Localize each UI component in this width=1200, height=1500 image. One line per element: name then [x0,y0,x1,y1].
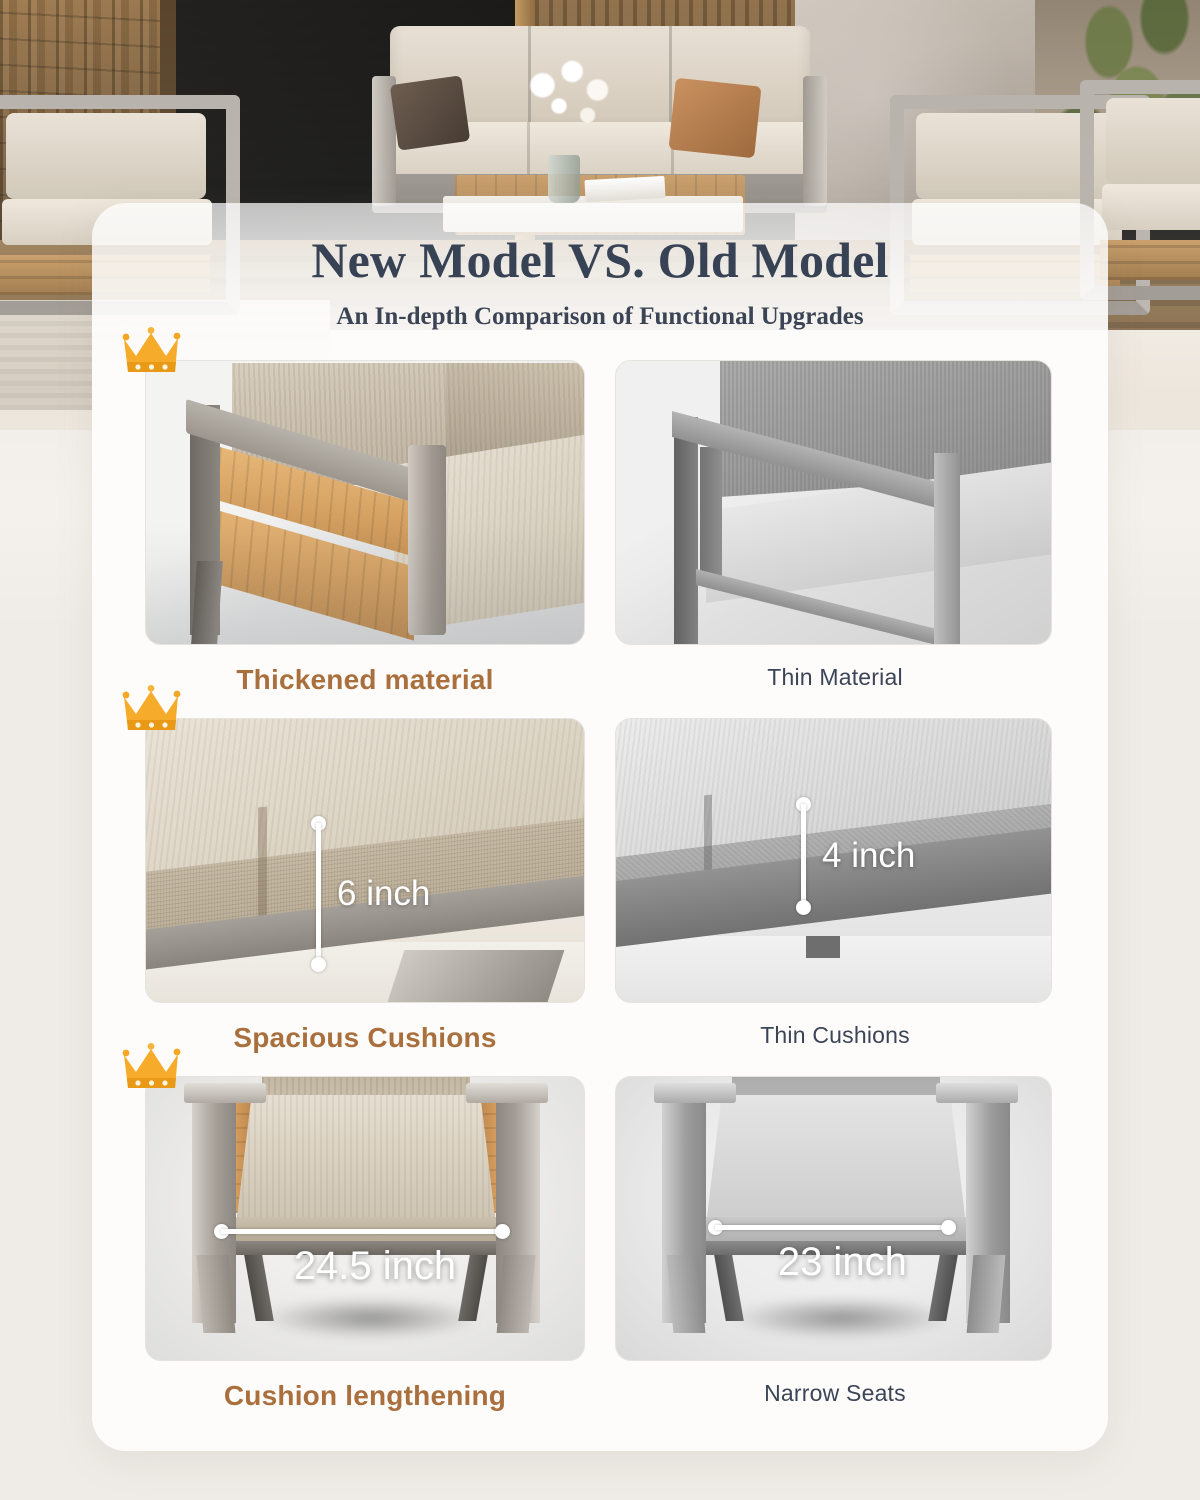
measurement-label: 6 inch [337,874,430,914]
measurement-label: 4 inch [822,836,915,876]
new-model-image-seat-width[interactable]: 24.5 inch [145,1076,585,1361]
measurement-label: 23 inch [778,1240,907,1285]
new-model-caption-cushions: Spacious Cushions [145,1022,585,1054]
new-model-image-material[interactable] [145,360,585,645]
measurement-line [316,823,321,965]
comparison-grid: Thickened material Thin Material [92,360,1108,1434]
crown-icon [120,1043,184,1089]
measurement-endpoint-right [495,1224,510,1239]
measurement-endpoint-bottom [796,900,811,915]
new-model-column-material: Thickened material [145,360,585,696]
new-model-column-cushions: 6 inch Spacious Cushions [145,718,585,1054]
crown-icon [120,685,184,731]
new-model-caption-seat-width: Cushion lengthening [145,1380,585,1412]
old-model-caption-cushions: Thin Cushions [615,1022,1055,1049]
old-model-caption-seat-width: Narrow Seats [615,1380,1055,1407]
comparison-row-material: Thickened material Thin Material [92,360,1108,718]
page-title: New Model VS. Old Model [92,231,1108,289]
measurement-endpoint-bottom [311,957,326,972]
new-model-image-cushions[interactable]: 6 inch [145,718,585,1003]
measurement-line [221,1229,503,1234]
measurement-label: 24.5 inch [294,1244,456,1289]
comparison-panel: New Model VS. Old Model An In-depth Comp… [92,203,1108,1451]
measurement-endpoint-right [941,1220,956,1235]
old-model-image-seat-width[interactable]: 23 inch [615,1076,1052,1361]
comparison-row-cushions: 6 inch Spacious Cushions [92,718,1108,1076]
page-subtitle: An In-depth Comparison of Functional Upg… [92,303,1108,331]
comparison-row-seat-width: 24.5 inch Cushion lengthening [92,1076,1108,1434]
old-model-column-cushions: 4 inch Thin Cushions [615,718,1055,1049]
old-model-image-cushions[interactable]: 4 inch [615,718,1052,1003]
old-model-column-material: Thin Material [615,360,1055,691]
old-model-image-material[interactable] [615,360,1052,645]
old-model-caption-material: Thin Material [615,664,1055,691]
new-model-caption-material: Thickened material [145,664,585,696]
measurement-line [801,804,806,908]
crown-icon [120,327,184,373]
measurement-line [715,1225,949,1230]
new-model-column-seat-width: 24.5 inch Cushion lengthening [145,1076,585,1412]
old-model-column-seat-width: 23 inch Narrow Seats [615,1076,1055,1407]
